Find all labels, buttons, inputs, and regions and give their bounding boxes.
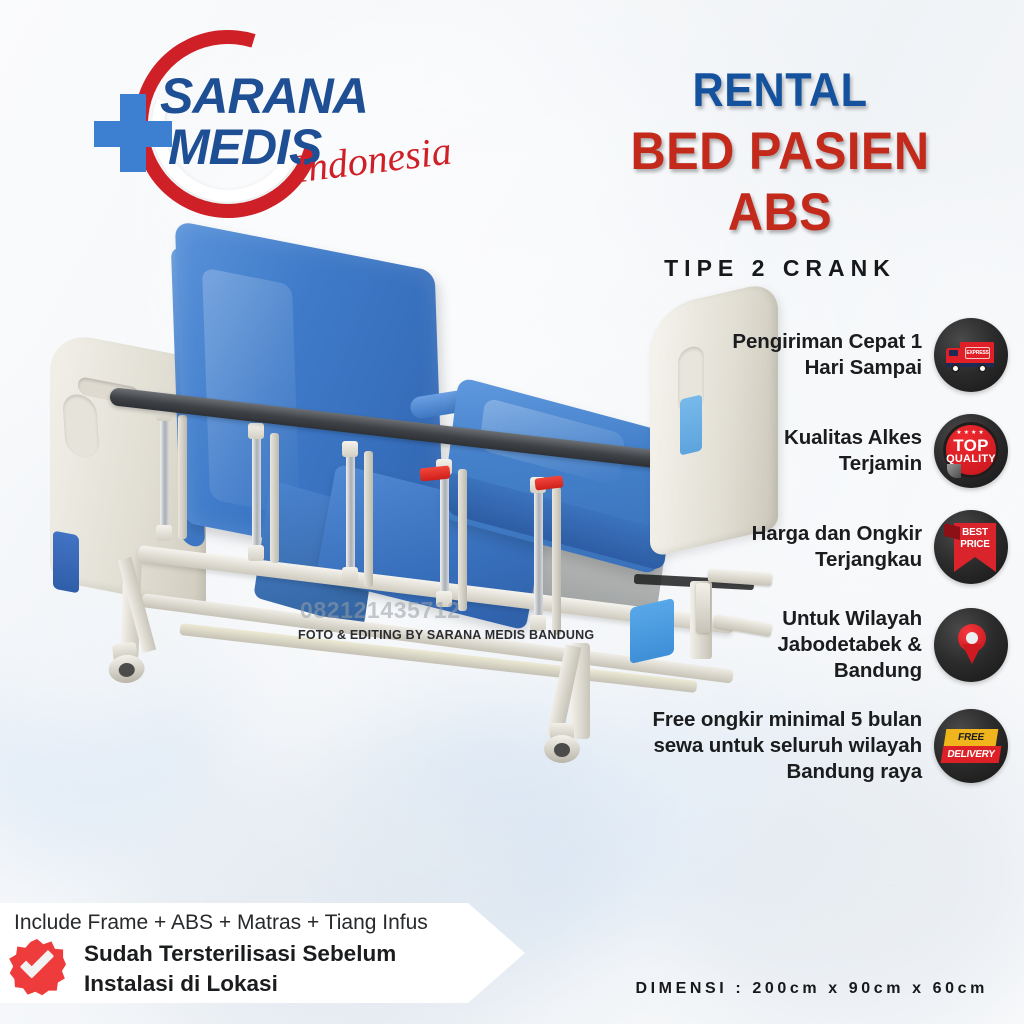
side-rail-bar [440, 465, 449, 605]
badge-text-price: PRICE [954, 539, 996, 550]
badge-text-free: FREE [944, 729, 999, 746]
side-rail-joint [342, 441, 358, 457]
feature-list: Pengiriman Cepat 1Hari Sampai EXPRESS DE… [632, 318, 1008, 807]
feature-label: Kualitas AlkesTerjamin [784, 425, 922, 477]
side-rail-bar [178, 415, 187, 539]
feature-item-pengiriman-cepat: Pengiriman Cepat 1Hari Sampai EXPRESS DE… [632, 318, 1008, 392]
dimensions-text: DIMENSI : 200cm x 90cm x 60cm [635, 980, 988, 998]
brand-logo: SARANA MEDIS Indonesia [76, 18, 476, 218]
side-rail-joint [342, 567, 358, 583]
feature-label: Untuk WilayahJabodetabek &Bandung [777, 606, 922, 685]
badge-text-delivery: DELIVERY [941, 746, 1002, 763]
truck-badge-text: EXPRESS DELIVERY [965, 347, 990, 359]
free-delivery-badge-icon: FREE DELIVERY [934, 709, 1008, 783]
bed-caster-wheel [542, 723, 582, 763]
side-rail-bar [270, 433, 279, 563]
headline-rental: RENTAL [587, 62, 973, 117]
feature-item-kualitas-alkes: Kualitas AlkesTerjamin ★★★★ TOP QUALITY [632, 414, 1008, 488]
badge-text-quality: QUALITY [934, 453, 1008, 465]
feature-label: Harga dan OngkirTerjangkau [752, 521, 922, 573]
side-rail-bar [534, 483, 543, 629]
side-rail-bar [364, 451, 373, 587]
bed-caster-wheel [104, 641, 148, 685]
watermark-phone: 082121435712 [300, 597, 461, 624]
side-rail-joint [156, 525, 172, 541]
banner-include-text: Include Frame + ABS + Matras + Tiang Inf… [14, 911, 428, 935]
side-rail-bar [458, 469, 467, 611]
feature-label: Free ongkir minimal 5 bulansewa untuk se… [652, 707, 922, 786]
bottom-banner: Include Frame + ABS + Matras + Tiang Inf… [0, 903, 525, 1003]
side-rail-joint [248, 423, 264, 439]
banner-sterilized-text: Sudah Tersterilisasi SebelumInstalasi di… [84, 939, 396, 998]
verified-check-icon [8, 939, 66, 997]
badge-stars: ★★★★ [934, 429, 1008, 436]
feature-item-free-ongkir: Free ongkir minimal 5 bulansewa untuk se… [632, 707, 1008, 786]
delivery-truck-badge-icon: EXPRESS DELIVERY [934, 318, 1008, 392]
feature-item-harga-ongkir: Harga dan OngkirTerjangkau BEST PRICE [632, 510, 1008, 584]
feature-item-wilayah: Untuk WilayahJabodetabek &Bandung [632, 606, 1008, 685]
backrest-highlight [202, 267, 300, 516]
side-rail-bar [160, 411, 169, 531]
headboard-blue-cap [53, 530, 79, 593]
side-rail-bar [252, 429, 261, 557]
side-rail-bar [346, 447, 355, 581]
watermark-credit: FOTO & EDITING BY SARANA MEDIS BANDUNG [298, 628, 594, 642]
badge-text-best: BEST [954, 527, 996, 538]
map-pin-badge-icon [934, 608, 1008, 682]
side-rail-bar [552, 487, 561, 635]
best-price-badge-icon: BEST PRICE [934, 510, 1008, 584]
top-quality-badge-icon: ★★★★ TOP QUALITY [934, 414, 1008, 488]
side-rail-joint [248, 545, 264, 561]
brand-name-line1: SARANA [160, 74, 368, 118]
feature-label: Pengiriman Cepat 1Hari Sampai [732, 329, 922, 381]
